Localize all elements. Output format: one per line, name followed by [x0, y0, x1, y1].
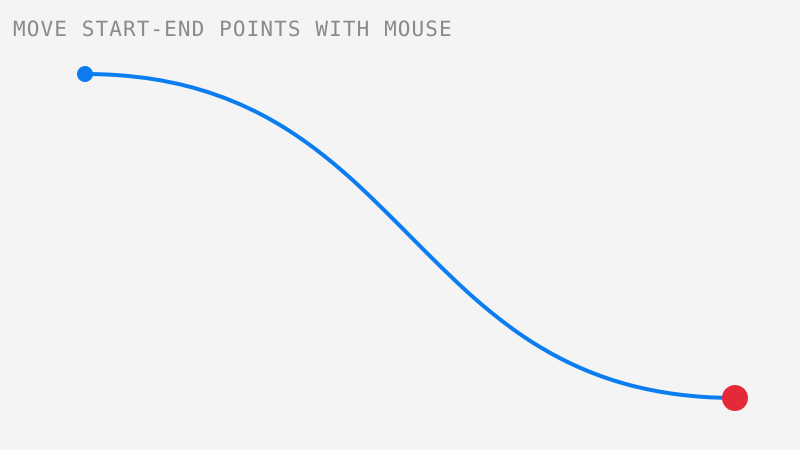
bezier-canvas[interactable] [0, 0, 800, 450]
canvas-background [0, 0, 800, 450]
canvas-app: MOVE START-END POINTS WITH MOUSE [0, 0, 800, 450]
end-point-handle[interactable] [722, 385, 748, 411]
start-point-handle[interactable] [77, 66, 93, 82]
